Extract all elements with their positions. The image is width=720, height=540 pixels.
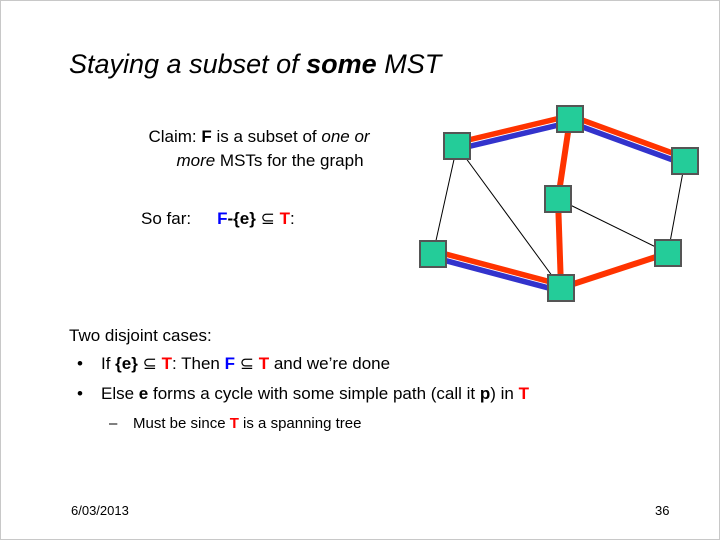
title-text-pre: Staying a subset of [69,49,306,79]
sub1-tree-symbol: T [230,415,239,432]
title-text-post: MST [377,49,442,79]
graph-edge-a-b-tree [456,116,569,143]
graph-figure [401,93,711,313]
so-far-forest-symbol: F [217,209,227,228]
sub-bullet-justification: – Must be since T is a spanning tree [69,409,649,439]
case1-tree-symbol-2: T [259,354,269,373]
graph-edge-b-c-tree [571,116,686,158]
case1-forest-symbol: F [225,354,235,373]
bullet-marker-icon: • [77,349,83,379]
claim-line-1: Claim: F is a subset of one or [109,125,409,149]
case2-edge-symbol: e [139,384,148,403]
claim-line-2: more MSTs for the graph [109,149,409,173]
so-far-line: So far:F-{e} ⊆ T: [141,207,295,231]
claim-emphasis-1: one or [321,127,369,146]
case1-subset-symbol-2: ⊆ [240,354,254,373]
graph-node-top[interactable] [557,106,583,132]
so-far-colon: : [290,209,295,228]
case1-middle: : Then [172,354,225,373]
so-far-subset-symbol: ⊆ [261,209,275,228]
graph-edge-e-f-forest [432,257,560,291]
sub1-prefix: Must be since [133,415,230,432]
claim-block: Claim: F is a subset of one or more MSTs… [109,125,409,173]
footer-date: 6/03/2013 [71,503,129,518]
footer-page-number: 36 [655,503,669,518]
case1-suffix: and we’re done [269,354,390,373]
graph-edge-e-f-tree [434,251,562,285]
graph-node-middle[interactable] [545,186,571,212]
so-far-label: So far: [141,209,191,228]
claim-forest-symbol: F [201,127,211,146]
graph-node-bottom-left[interactable] [420,241,446,267]
so-far-minus-edge: -{e} [227,209,255,228]
graph-node-bottom-right[interactable] [655,240,681,266]
graph-edge-f-g [561,253,668,288]
graph-svg [401,93,711,313]
claim-suffix: MSTs for the graph [215,151,363,170]
graph-edge-d-g [558,199,668,253]
case1-subset-symbol-1: ⊆ [143,354,157,373]
slide-canvas: Staying a subset of some MST Claim: F is… [0,0,720,540]
bullet-marker-icon: • [77,379,83,409]
claim-prefix: Claim: [148,127,201,146]
body-text-block: Two disjoint cases: • If {e} ⊆ T: Then F… [69,323,649,439]
bullet-case-1: • If {e} ⊆ T: Then F ⊆ T and we’re done [69,349,649,379]
case2-middle-2: ) in [490,384,518,403]
case1-edge-set: {e} [115,354,138,373]
claim-middle: is a subset of [212,127,322,146]
case1-prefix: If [101,354,115,373]
graph-edge-b-c-forest [569,122,684,164]
graph-node-top-left[interactable] [444,133,470,159]
graph-edge-a-b-forest [458,122,571,149]
case1-tree-symbol-1: T [162,354,172,373]
graph-node-bottom[interactable] [548,275,574,301]
case2-path-symbol: p [480,384,490,403]
bullet-case-2: • Else e forms a cycle with some simple … [69,379,649,409]
graph-edge-a-e [433,146,457,254]
sub1-suffix: is a spanning tree [239,415,362,432]
graph-node-top-right[interactable] [672,148,698,174]
so-far-tree-symbol: T [280,209,290,228]
case2-middle: forms a cycle with some simple path (cal… [148,384,480,403]
claim-emphasis-2: more [176,151,215,170]
dash-marker-icon: – [109,409,117,439]
page-title: Staying a subset of some MST [69,47,649,81]
title-text-emphasis: some [306,49,377,79]
case2-tree-symbol: T [519,384,529,403]
cases-lead-in: Two disjoint cases: [69,323,649,349]
case2-prefix: Else [101,384,139,403]
